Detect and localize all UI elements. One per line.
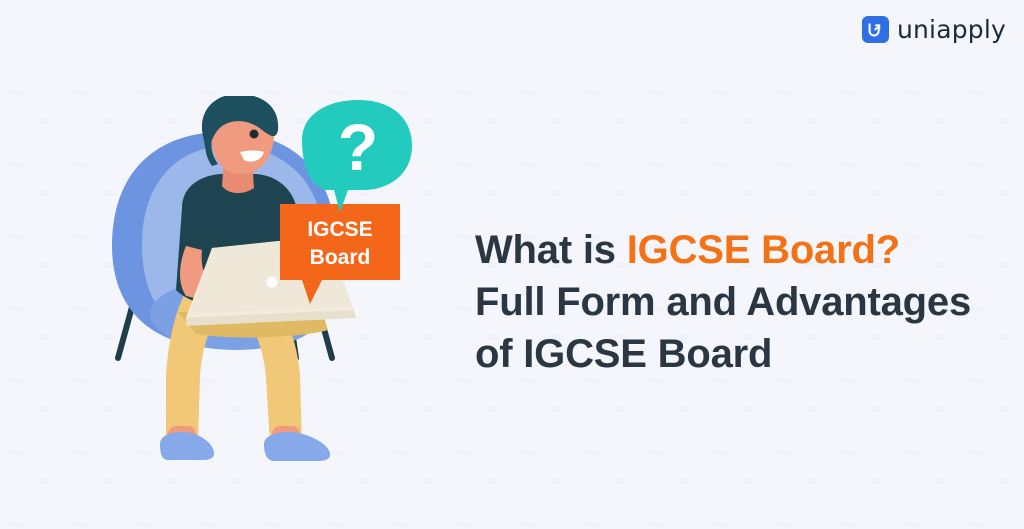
headline-line-1: What is IGCSE Board? xyxy=(475,224,995,276)
right-shoe xyxy=(264,432,330,461)
headline-line-1-accent: IGCSE Board? xyxy=(627,228,900,272)
uniapply-logo-icon xyxy=(862,16,889,43)
headline-line-1-prefix: What is xyxy=(475,228,627,272)
eye xyxy=(250,130,259,139)
page-title: What is IGCSE Board? Full Form and Advan… xyxy=(475,224,995,380)
bubble-label-line1: IGCSE xyxy=(307,218,372,241)
laptop-logo-dot xyxy=(267,277,278,288)
question-mark-icon: ? xyxy=(338,110,378,184)
student-illustration: IGCSE Board ? xyxy=(86,96,426,486)
headline-line-2: Full Form and Advantages xyxy=(475,276,995,328)
banner-container: uniapply xyxy=(0,0,1024,529)
headline-line-3: of IGCSE Board xyxy=(475,328,995,380)
brand-logo[interactable]: uniapply xyxy=(862,16,1006,43)
brand-wordmark: uniapply xyxy=(897,17,1006,42)
left-shoe xyxy=(160,432,214,460)
bubble-label-line2: Board xyxy=(310,246,371,269)
